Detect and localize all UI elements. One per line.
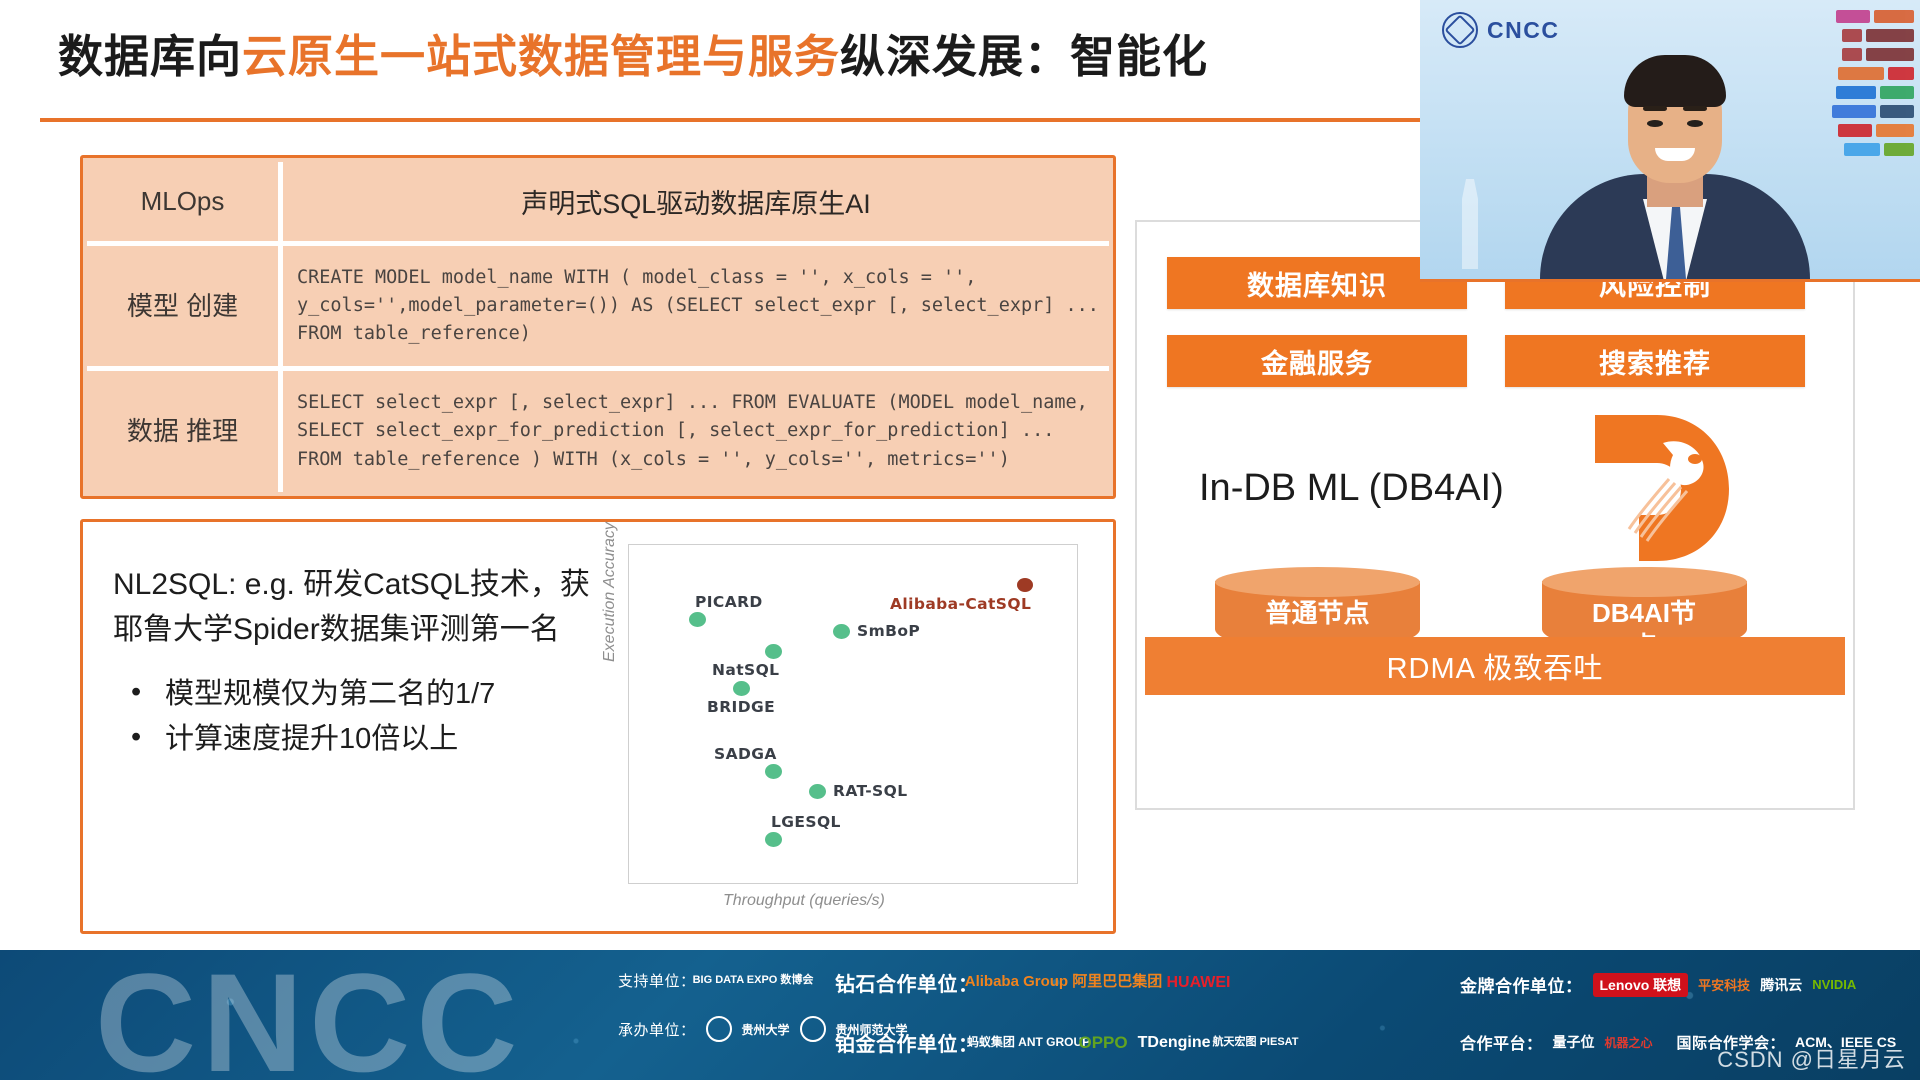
guizhou-university-seal-icon: [706, 1016, 732, 1042]
tag-search-recommend[interactable]: 搜索推荐: [1505, 335, 1805, 387]
chart-plot-area: PICARDSmBoPNatSQLBRIDGESADGARAT-SQLLGESQ…: [629, 545, 1077, 883]
left-column: MLOps 声明式SQL驱动数据库原生AI 模型 创建 CREATE MODEL…: [80, 155, 1120, 934]
right-panel: 数据库知识 风险控制 金融服务 搜索推荐 In-DB ML (DB4AI) 普通…: [1135, 220, 1855, 810]
footer-label-support: 支持单位：: [618, 970, 696, 991]
logo-tencent-cloud: 腾讯云: [1760, 975, 1802, 995]
cylinder-top: [1215, 567, 1420, 597]
slide-root: 数据库向云原生一站式数据管理与服务纵深发展：智能化 MLOps 声明式SQL驱动…: [0, 0, 1920, 1080]
video-sponsor-strip: [1794, 10, 1914, 235]
sql-code-evaluate: SELECT select_expr [, select_expr] ... F…: [283, 371, 1109, 491]
page-title: 数据库向云原生一站式数据管理与服务纵深发展：智能化: [58, 16, 1398, 88]
scatter-point-label: SADGA: [714, 745, 777, 763]
list-item: 模型规模仅为第二名的1/7: [113, 672, 593, 717]
eyebrow-right: [1683, 106, 1707, 111]
sql-code-create-model: CREATE MODEL model_name WITH ( model_cla…: [283, 246, 1113, 366]
chart-y-axis-label: Execution Accuracy: [601, 522, 619, 662]
hair: [1624, 55, 1726, 107]
sponsor-row: [1832, 105, 1914, 118]
scatter-point: [733, 681, 750, 696]
logo-alibaba: Alibaba Group 阿里巴巴集团: [989, 974, 1139, 991]
footer-label-gold: 金牌合作单位：: [1460, 972, 1583, 997]
scatter-point: [833, 624, 850, 639]
scatter-point-label: RAT-SQL: [833, 782, 907, 800]
nl2sql-text: NL2SQL: e.g. 研发CatSQL技术，获耶鲁大学Spider数据集评测…: [83, 522, 593, 762]
list-item: 计算速度提升10倍以上: [113, 717, 593, 762]
scatter-point: [765, 832, 782, 847]
logo-huawei: HUAWEI: [1167, 974, 1231, 992]
eyebrow-left: [1643, 106, 1667, 111]
table-row: 模型 创建 CREATE MODEL model_name WITH ( mod…: [87, 241, 1109, 366]
logo-piesat: 航天宏图 PIESAT: [1221, 1036, 1291, 1048]
footer-group-support: 支持单位： BIG DATA EXPO 数博会: [618, 970, 801, 991]
chart-x-axis-label: Throughput (queries/s): [723, 892, 885, 910]
speaker-video-overlay[interactable]: CNCC: [1420, 0, 1920, 282]
logo-nvidia: NVIDIA: [1812, 977, 1856, 992]
footer-label-platinum: 铂金合作单位：: [835, 1028, 979, 1057]
title-highlight: 云原生一站式数据管理与服务: [242, 31, 840, 82]
logo-guizhou-university: 贵州大学: [742, 1021, 790, 1038]
guizhou-normal-university-seal-icon: [800, 1016, 826, 1042]
footer-group-diamond: 钻石合作单位： Alibaba Group 阿里巴巴集团 HUAWEI: [835, 968, 1231, 997]
logo-bigdata-expo: BIG DATA EXPO 数博会: [706, 974, 801, 986]
logo-pingan-tech: 平安科技: [1698, 975, 1750, 994]
footer-label-organizer: 承办单位：: [618, 1019, 696, 1040]
sponsor-row: [1838, 124, 1914, 137]
scatter-point: [765, 764, 782, 779]
logo-jiqizhixin: 机器之心: [1605, 1034, 1653, 1051]
scatter-point: [809, 784, 826, 799]
logo-qbitai: 量子位: [1553, 1032, 1595, 1052]
scatter-point: [1017, 578, 1033, 592]
tower-graphic: [1450, 179, 1490, 269]
table-row: 数据 推理 SELECT select_expr [, select_expr]…: [87, 366, 1109, 491]
footer-group-gold: 金牌合作单位： Lenovo 联想 平安科技 腾讯云 NVIDIA: [1460, 972, 1856, 997]
logo-tdengine: TDengine: [1138, 1034, 1211, 1052]
cylinder-top: [1542, 567, 1747, 597]
table-row: MLOps 声明式SQL驱动数据库原生AI: [87, 162, 1109, 241]
footer-group-platinum: 铂金合作单位： 蚂蚁集团 ANT GROUP OPPO TDengine 航天宏…: [835, 1028, 1291, 1057]
rdma-bar-label: RDMA 极致吞吐: [1145, 637, 1845, 695]
scatter-point-label: Alibaba-CatSQL: [890, 595, 1031, 613]
scatter-point-label: BRIDGE: [707, 698, 775, 716]
nl2sql-card: NL2SQL: e.g. 研发CatSQL技术，获耶鲁大学Spider数据集评测…: [80, 519, 1116, 934]
sponsor-row: [1844, 143, 1914, 156]
sponsor-row: [1836, 10, 1914, 23]
logo-ant-group: 蚂蚁集团 ANT GROUP: [989, 1036, 1069, 1049]
sponsor-row: [1838, 67, 1914, 80]
sponsor-row: [1842, 29, 1914, 42]
sponsor-row: [1842, 48, 1914, 61]
speaker-portrait: [1540, 29, 1810, 279]
indb-ml-title: In-DB ML (DB4AI): [1199, 467, 1504, 510]
scatter-point: [689, 612, 706, 627]
logo-oppo: OPPO: [1079, 1033, 1128, 1053]
sponsor-row: [1836, 86, 1914, 99]
tag-financial-service[interactable]: 金融服务: [1167, 335, 1467, 387]
watermark: CSDN @日星月云: [1717, 1042, 1906, 1074]
footer-label-diamond: 钻石合作单位：: [835, 968, 979, 997]
scatter-chart: PICARDSmBoPNatSQLBRIDGESADGARAT-SQLLGESQ…: [628, 544, 1078, 884]
sponsor-footer: CNCC 支持单位： BIG DATA EXPO 数博会 承办单位： 贵州大学 …: [0, 950, 1920, 1080]
scatter-point: [765, 644, 782, 659]
logo-lenovo: Lenovo 联想: [1593, 973, 1689, 997]
scatter-point-label: SmBoP: [857, 622, 920, 640]
nl2sql-bullet-list: 模型规模仅为第二名的1/7 计算速度提升10倍以上: [113, 672, 593, 762]
ccf-emblem-icon: [1442, 12, 1478, 48]
row-label-model-create: 模型 创建: [87, 246, 283, 366]
nl2sql-heading: NL2SQL: e.g. 研发CatSQL技术，获耶鲁大学Spider数据集评测…: [113, 562, 593, 652]
scatter-point-label: PICARD: [695, 593, 763, 611]
footer-label-platform: 合作平台：: [1460, 1030, 1543, 1054]
footer-wordmark: CNCC: [95, 950, 523, 1080]
eye-left: [1647, 120, 1663, 127]
scatter-point-label: NatSQL: [712, 661, 779, 679]
row-label-mlops: MLOps: [87, 162, 283, 241]
node-label-normal: 普通节点: [1215, 597, 1420, 630]
table-heading: 声明式SQL驱动数据库原生AI: [283, 162, 1109, 241]
sql-table-card: MLOps 声明式SQL驱动数据库原生AI 模型 创建 CREATE MODEL…: [80, 155, 1116, 499]
row-label-data-inference: 数据 推理: [87, 371, 283, 491]
eye-right: [1687, 120, 1703, 127]
title-part2: 纵深发展：智能化: [840, 31, 1208, 82]
database-dog-logo-icon: [1577, 407, 1737, 567]
scatter-point-label: LGESQL: [771, 813, 841, 831]
title-part1: 数据库向: [58, 31, 242, 82]
